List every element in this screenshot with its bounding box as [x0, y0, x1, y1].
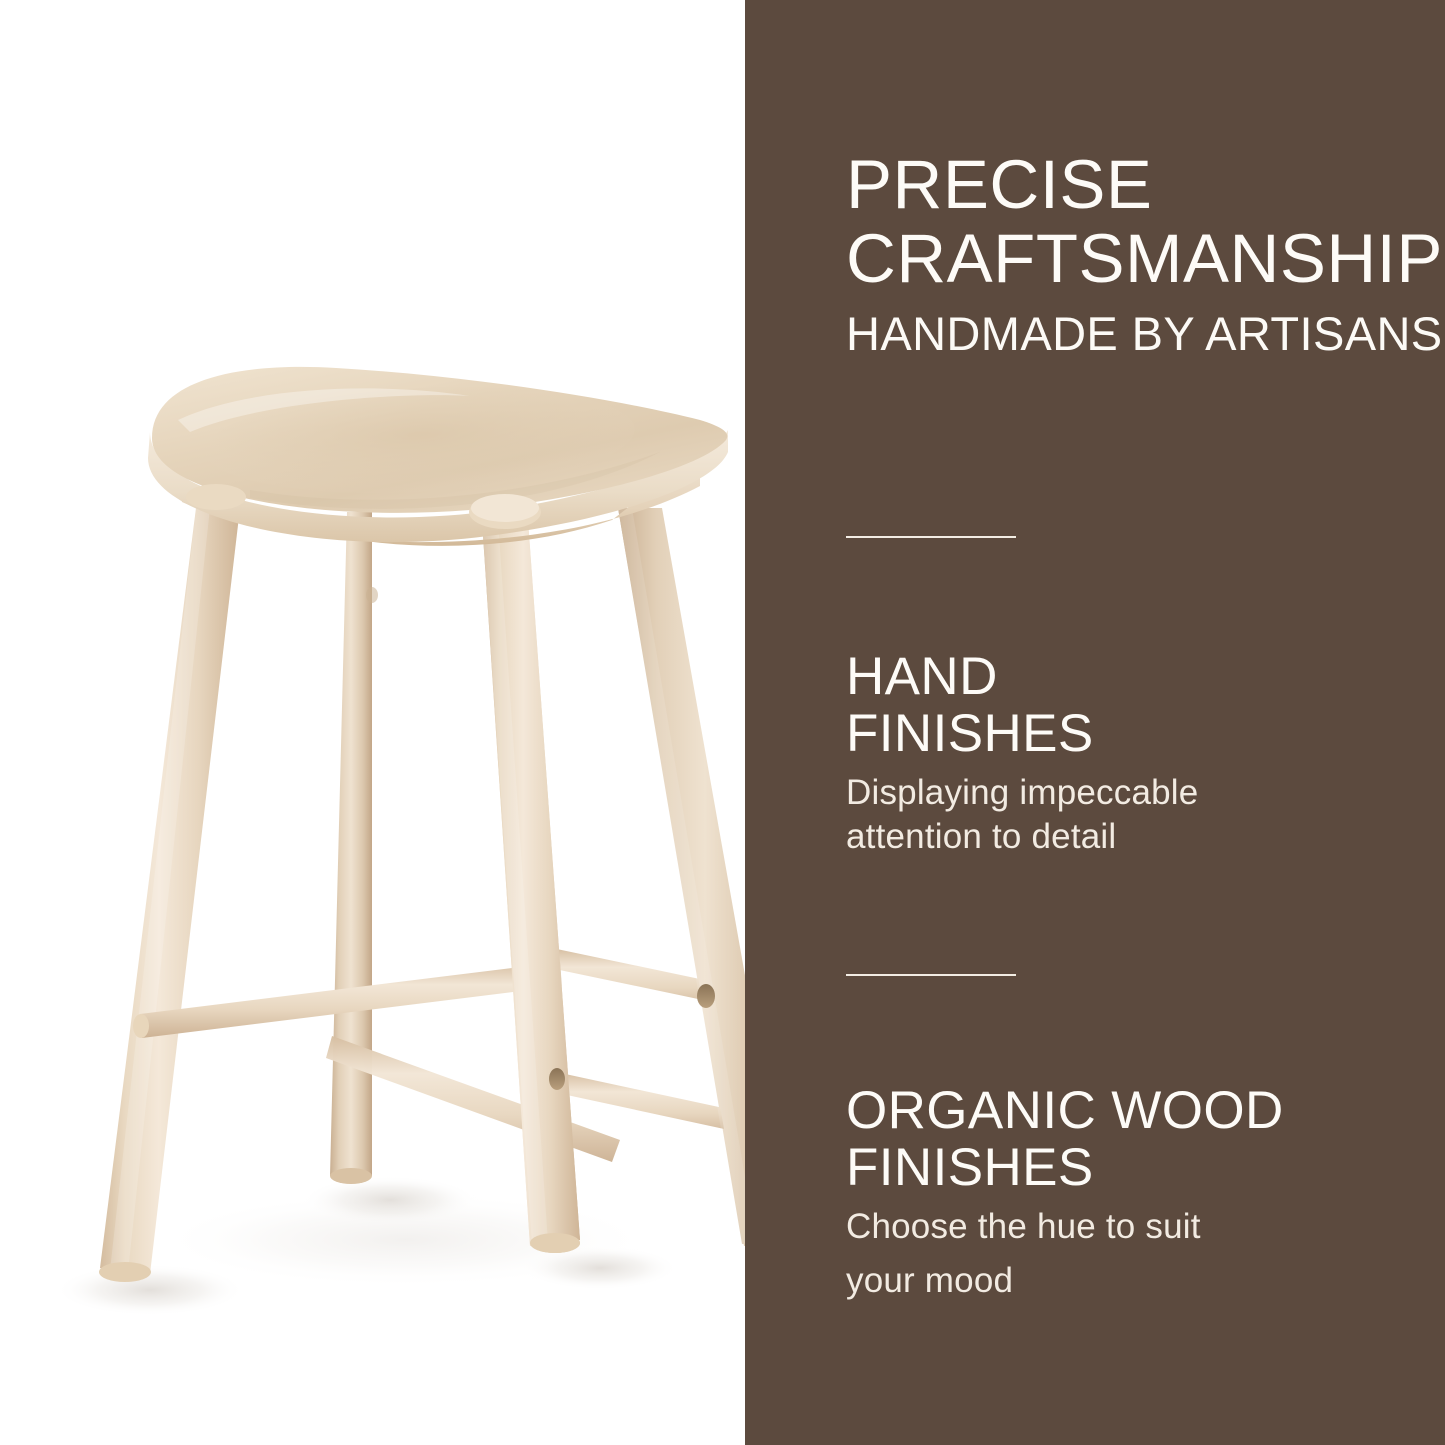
section-divider-1 [846, 536, 1016, 538]
dowel-hole-upper [697, 984, 715, 1008]
feature-body-line-2: your mood [846, 1259, 1445, 1303]
stool-product-image [0, 0, 745, 1445]
feature-body-line-1: Choose the hue to suit [846, 1205, 1445, 1249]
headline-subhead: HANDMADE BY ARTISANS [846, 308, 1445, 360]
headline-block: PRECISE CRAFTSMANSHIP HANDMADE BY ARTISA… [846, 152, 1445, 360]
dowel-hole-lower [549, 1068, 565, 1090]
feature-title-line-1: ORGANIC WOOD [846, 1082, 1445, 1139]
leg-socket-left [186, 484, 246, 510]
headline-line-1: PRECISE [846, 152, 1445, 218]
feature-copy-panel: PRECISE CRAFTSMANSHIP HANDMADE BY ARTISA… [745, 0, 1445, 1445]
section-divider-2 [846, 974, 1016, 976]
feature-title-line-2: FINISHES [846, 1139, 1445, 1196]
product-feature-banner: PRECISE CRAFTSMANSHIP HANDMADE BY ARTISA… [0, 0, 1445, 1445]
feature-title-line-2: FINISHES [846, 705, 1445, 762]
feature-title-line-1: HAND [846, 648, 1445, 705]
feature-body-line-2: attention to detail [846, 815, 1445, 859]
feature-body-line-1: Displaying impeccable [846, 771, 1445, 815]
stool-leg-back-left [330, 512, 372, 1176]
feature-block-hand-finishes: HAND FINISHES Displaying impeccable atte… [846, 648, 1445, 859]
feature-block-organic-wood-finishes: ORGANIC WOOD FINISHES Choose the hue to … [846, 1082, 1445, 1303]
product-image-panel [0, 0, 745, 1445]
dowel-hole-leg [366, 587, 378, 603]
headline-line-2: CRAFTSMANSHIP [846, 226, 1445, 292]
